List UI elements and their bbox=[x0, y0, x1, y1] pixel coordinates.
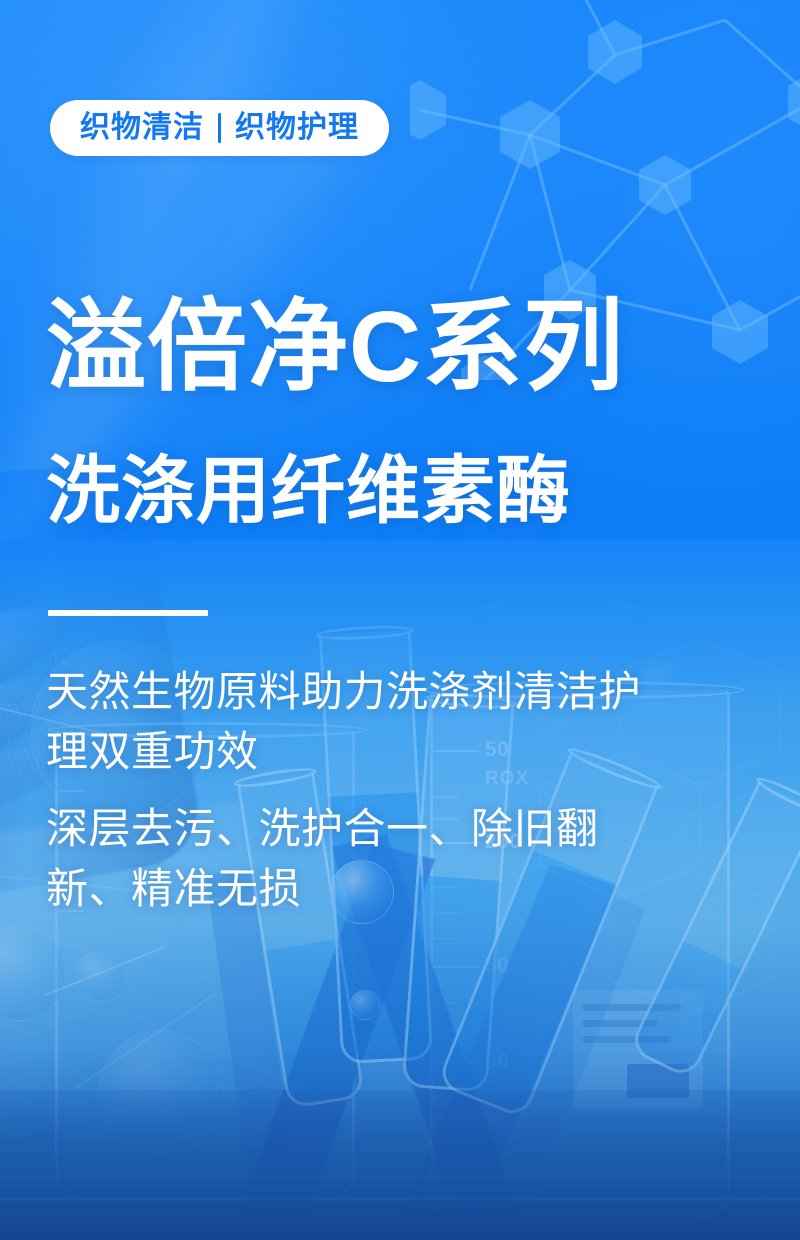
description-paragraph: 深层去污、洗护合一、除旧翻新、精准无损 bbox=[46, 799, 666, 920]
badge-label-right: 织物护理 bbox=[235, 113, 359, 143]
description-paragraph: 天然生物原料助力洗涤剂清洁护理双重功效 bbox=[46, 662, 666, 783]
product-poster: 50 ROX 200 50 00 bbox=[0, 0, 800, 1240]
badge-label-left: 织物清洁 bbox=[80, 113, 204, 143]
category-badge[interactable]: 织物清洁 织物护理 bbox=[50, 100, 389, 156]
poster-content: 织物清洁 织物护理 溢倍净C系列 洗涤用纤维素酶 天然生物原料助力洗涤剂清洁护理… bbox=[0, 0, 800, 1240]
page-title: 溢倍净C系列 bbox=[46, 296, 624, 398]
description-block: 天然生物原料助力洗涤剂清洁护理双重功效 深层去污、洗护合一、除旧翻新、精准无损 bbox=[46, 662, 706, 920]
badge-separator-icon bbox=[218, 113, 221, 143]
page-subtitle: 洗涤用纤维素酶 bbox=[46, 452, 571, 530]
title-divider bbox=[48, 610, 208, 616]
